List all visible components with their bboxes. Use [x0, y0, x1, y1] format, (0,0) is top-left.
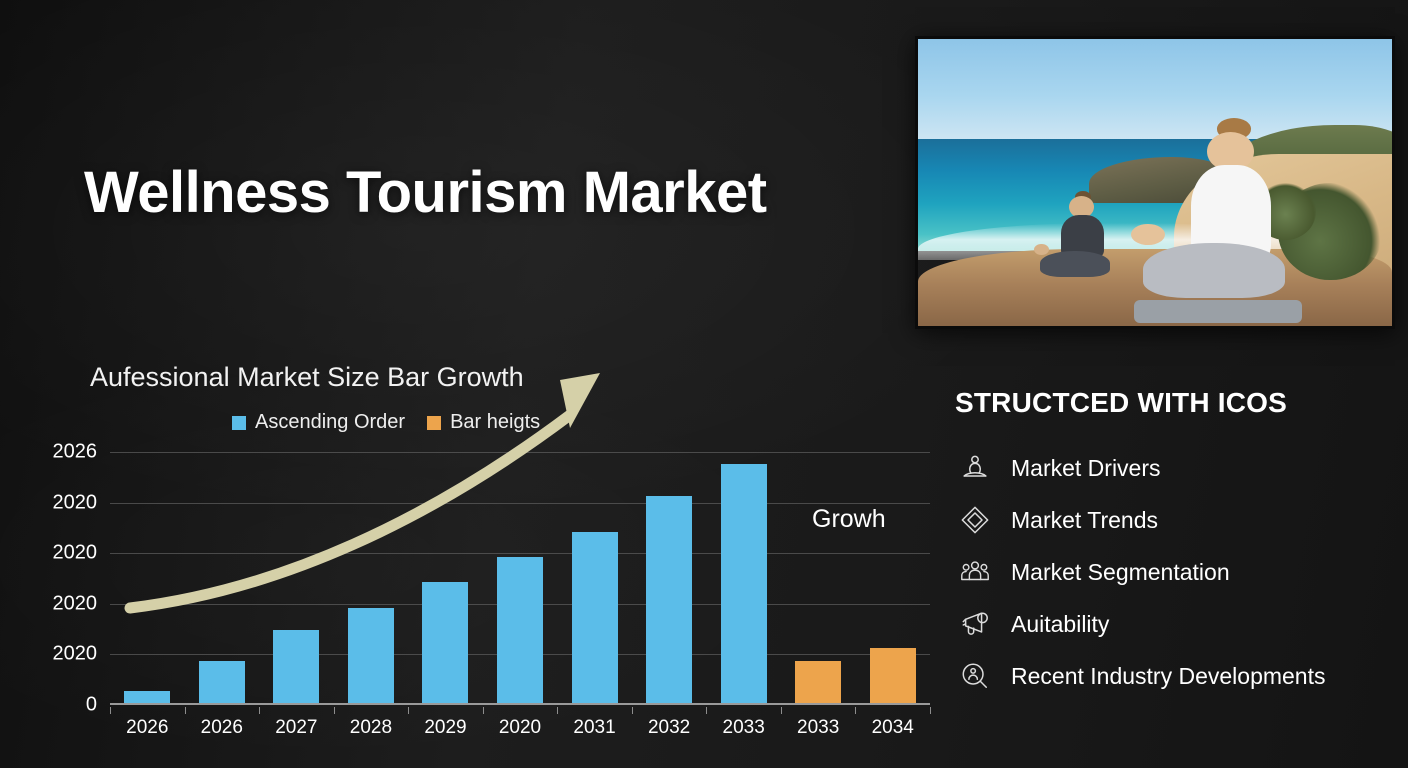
chart-x-label: 2026: [110, 707, 185, 739]
chart-y-label: 2020: [53, 542, 98, 565]
chart-bar-slot: [706, 452, 781, 705]
legend-swatch-0: [232, 416, 246, 430]
chart-x-tick: [110, 707, 111, 714]
chart-bar[interactable]: [348, 608, 394, 705]
legend-label-0: Ascending Order: [255, 411, 405, 434]
photo-figure-near: [1160, 122, 1302, 317]
legend-label-1: Bar heigts: [450, 411, 540, 434]
chart-bar-slot: [408, 452, 483, 705]
chart-bar-slot: [259, 452, 334, 705]
chart-bar-slot: [557, 452, 632, 705]
chart-x-label: 2032: [632, 707, 707, 739]
chart-x-label: 2034: [855, 707, 930, 739]
legend-swatch-1: [427, 416, 441, 430]
chart-x-label: 2031: [557, 707, 632, 739]
chart-bar[interactable]: [199, 661, 245, 705]
magnifier-person-icon: [955, 657, 995, 695]
chart-bar[interactable]: [795, 661, 841, 705]
photo-figure-far: [1046, 194, 1122, 280]
chart-bar[interactable]: [497, 557, 543, 705]
chart-x-label: 2026: [185, 707, 260, 739]
chart-y-label: 2020: [53, 592, 98, 615]
chart-bar[interactable]: [721, 464, 767, 705]
chart-bar-slot: [781, 452, 856, 705]
chart-bar-slot: [632, 452, 707, 705]
chart-y-label: 2020: [53, 643, 98, 666]
chart-x-label: 2029: [408, 707, 483, 739]
feature-item-1[interactable]: Market Trends: [955, 500, 1395, 540]
chart-x-label: 2033: [781, 707, 856, 739]
feature-label: Market Drivers: [1011, 455, 1161, 482]
chart-y-label: 2020: [53, 491, 98, 514]
feature-item-4[interactable]: Recent Industry Developments: [955, 656, 1395, 696]
chart-x-tick: [334, 707, 335, 714]
feature-list: Market DriversMarket TrendsMarket Segmen…: [955, 448, 1395, 708]
feature-item-2[interactable]: Market Segmentation: [955, 552, 1395, 592]
chart-x-tick: [408, 707, 409, 714]
meditation-person-icon: [955, 449, 995, 487]
chart-x-tick: [632, 707, 633, 714]
chart-bar-slot: [334, 452, 409, 705]
chart-x-tick: [259, 707, 260, 714]
chart-bar-slot: [110, 452, 185, 705]
legend-item-1: Bar heigts: [427, 411, 540, 434]
chart-legend: Ascending Order Bar heigts: [232, 411, 540, 434]
chart-y-label: 0: [86, 694, 97, 717]
beach-meditation-photo: [915, 36, 1395, 329]
panel-heading: STRUCTCED WITH ICOS: [955, 387, 1287, 419]
feature-label: Recent Industry Developments: [1011, 663, 1326, 690]
growth-label: Growh: [812, 505, 886, 534]
feature-label: Market Segmentation: [1011, 559, 1230, 586]
feature-item-3[interactable]: Auitability: [955, 604, 1395, 644]
diamond-icon: [955, 501, 995, 539]
chart-bar-slot: [855, 452, 930, 705]
chart-x-tick: [483, 707, 484, 714]
legend-item-0: Ascending Order: [232, 411, 405, 434]
chart-x-tick: [557, 707, 558, 714]
feature-item-0[interactable]: Market Drivers: [955, 448, 1395, 488]
chart-bar[interactable]: [870, 648, 916, 705]
chart-x-label: 2028: [334, 707, 409, 739]
chart-bar[interactable]: [273, 630, 319, 705]
chart-bar-slot: [185, 452, 260, 705]
chart-baseline: [110, 703, 930, 705]
page-title: Wellness Tourism Market: [84, 159, 767, 226]
chart-x-tick: [930, 707, 931, 714]
chart-bar[interactable]: [422, 582, 468, 705]
chart-x-axis: 2026202620272028202920202031203220332033…: [110, 707, 930, 739]
chart-bar[interactable]: [646, 496, 692, 705]
chart-y-label: 2026: [53, 441, 98, 464]
chart-x-label: 2020: [483, 707, 558, 739]
chart-x-label: 2027: [259, 707, 334, 739]
megaphone-icon: [955, 605, 995, 643]
chart-x-tick: [855, 707, 856, 714]
chart-title: Aufessional Market Size Bar Growth: [90, 362, 524, 393]
chart-x-tick: [185, 707, 186, 714]
chart-plot-area: [110, 452, 930, 705]
chart-x-tick: [706, 707, 707, 714]
chart-bar[interactable]: [572, 532, 618, 705]
chart-x-tick: [781, 707, 782, 714]
people-group-icon: [955, 553, 995, 591]
feature-label: Market Trends: [1011, 507, 1158, 534]
chart-bar-slot: [483, 452, 558, 705]
chart-x-label: 2033: [706, 707, 781, 739]
chart-bars: [110, 452, 930, 705]
feature-label: Auitability: [1011, 611, 1109, 638]
